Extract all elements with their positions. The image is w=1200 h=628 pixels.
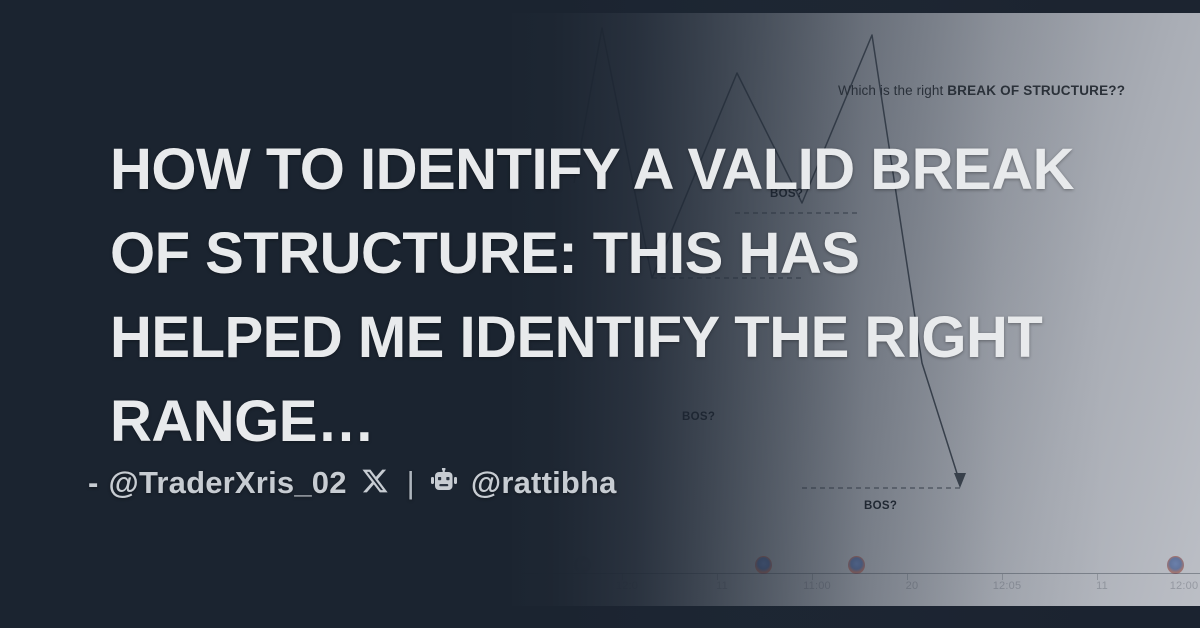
attribution-dash: -	[88, 465, 99, 501]
source-handle[interactable]: @rattibha	[471, 465, 617, 501]
share-card: Which is the right BREAK OF STRUCTURE?? …	[0, 0, 1200, 628]
separator: |	[407, 465, 415, 501]
card-foreground: HOW TO IDENTIFY A VALID BREAK OF STRUCTU…	[0, 0, 1200, 628]
robot-icon	[429, 468, 459, 499]
page-title: HOW TO IDENTIFY A VALID BREAK OF STRUCTU…	[110, 128, 1100, 464]
author-handle[interactable]: @TraderXris_02	[109, 465, 347, 501]
attribution-line: - @TraderXris_02 |	[88, 465, 617, 501]
x-logo-icon[interactable]	[361, 467, 389, 500]
